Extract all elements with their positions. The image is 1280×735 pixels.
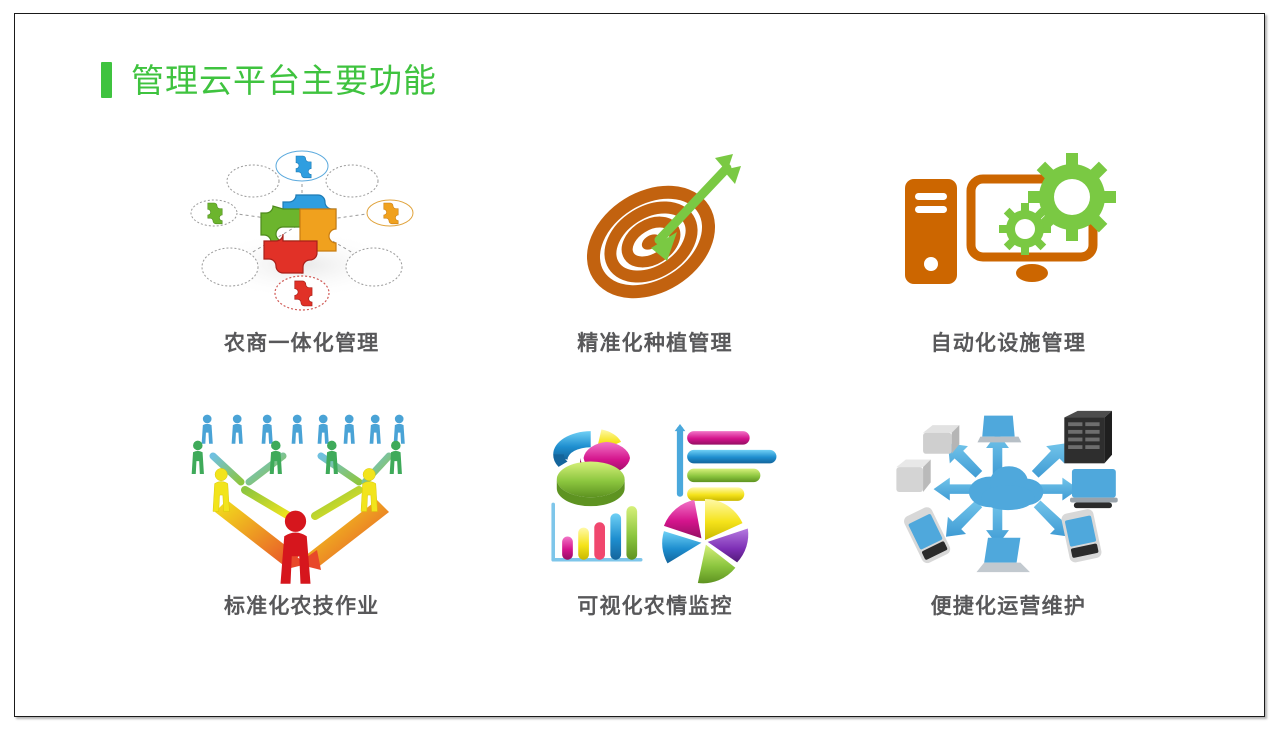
puzzle-network-icon	[177, 139, 427, 319]
computer-gears-icon	[883, 139, 1133, 319]
people-hierarchy-icon	[177, 396, 427, 586]
page-title: 管理云平台主要功能	[131, 64, 437, 97]
title-accent-bar	[101, 62, 112, 98]
feature-item-easy-operations[interactable]: 便捷化运营维护	[832, 396, 1185, 631]
slide-frame: 管理云平台主要功能	[14, 13, 1265, 717]
feature-item-standard-agrotech[interactable]: 标准化农技作业	[125, 396, 478, 631]
feature-item-precision-planting[interactable]: 精准化种植管理	[478, 139, 831, 374]
charts-collection-icon	[530, 396, 780, 586]
feature-item-agri-business-integration[interactable]: 农商一体化管理	[125, 139, 478, 374]
feature-item-visual-monitoring[interactable]: 可视化农情监控	[478, 396, 831, 631]
feature-label: 可视化农情监控	[577, 590, 732, 620]
feature-label: 精准化种植管理	[577, 327, 732, 357]
slide-canvas: 管理云平台主要功能	[0, 0, 1280, 735]
target-arrow-icon	[530, 139, 780, 319]
feature-label: 标准化农技作业	[224, 590, 379, 620]
cloud-devices-icon	[883, 396, 1133, 586]
feature-grid: 农商一体化管理	[125, 139, 1185, 631]
feature-label: 农商一体化管理	[224, 327, 379, 357]
feature-label: 自动化设施管理	[931, 327, 1086, 357]
feature-label: 便捷化运营维护	[931, 590, 1086, 620]
feature-item-automated-facility[interactable]: 自动化设施管理	[832, 139, 1185, 374]
slide-title: 管理云平台主要功能	[101, 62, 437, 98]
